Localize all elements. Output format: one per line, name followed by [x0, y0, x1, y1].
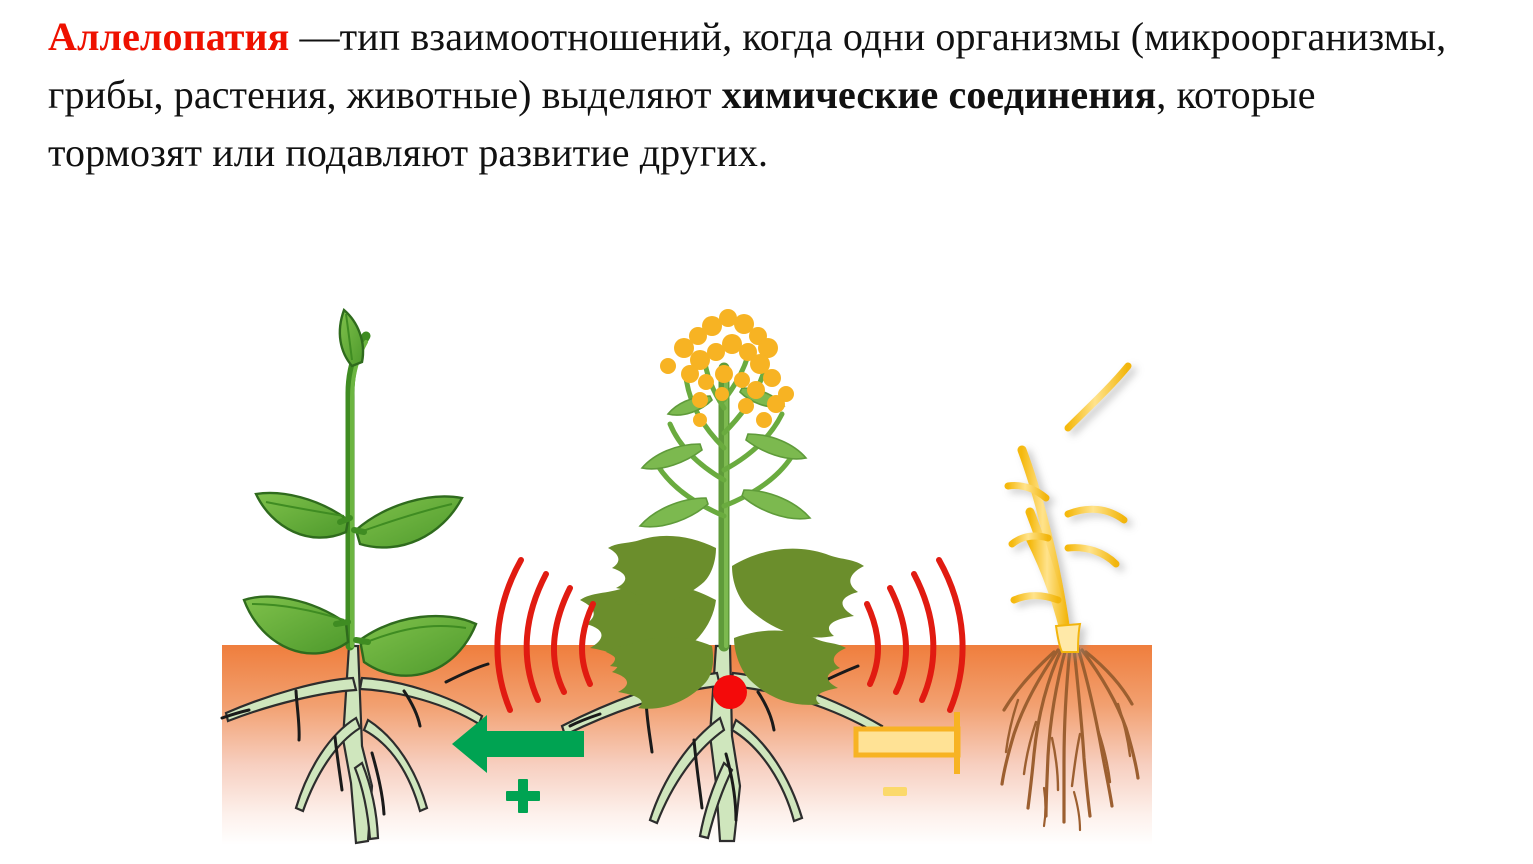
stem-left [350, 336, 366, 646]
definition-paragraph: Аллелопатия —тип взаимоотношений, когда … [48, 8, 1448, 182]
minus-sign [883, 787, 907, 796]
term-allelopathy: Аллелопатия [48, 14, 289, 59]
root-exudate-point [713, 675, 747, 709]
allelopathy-illustration [0, 248, 1533, 864]
definition-emphasis: химические соединения [722, 72, 1157, 117]
leaves-left [244, 310, 476, 676]
stems-right [1008, 318, 1128, 652]
